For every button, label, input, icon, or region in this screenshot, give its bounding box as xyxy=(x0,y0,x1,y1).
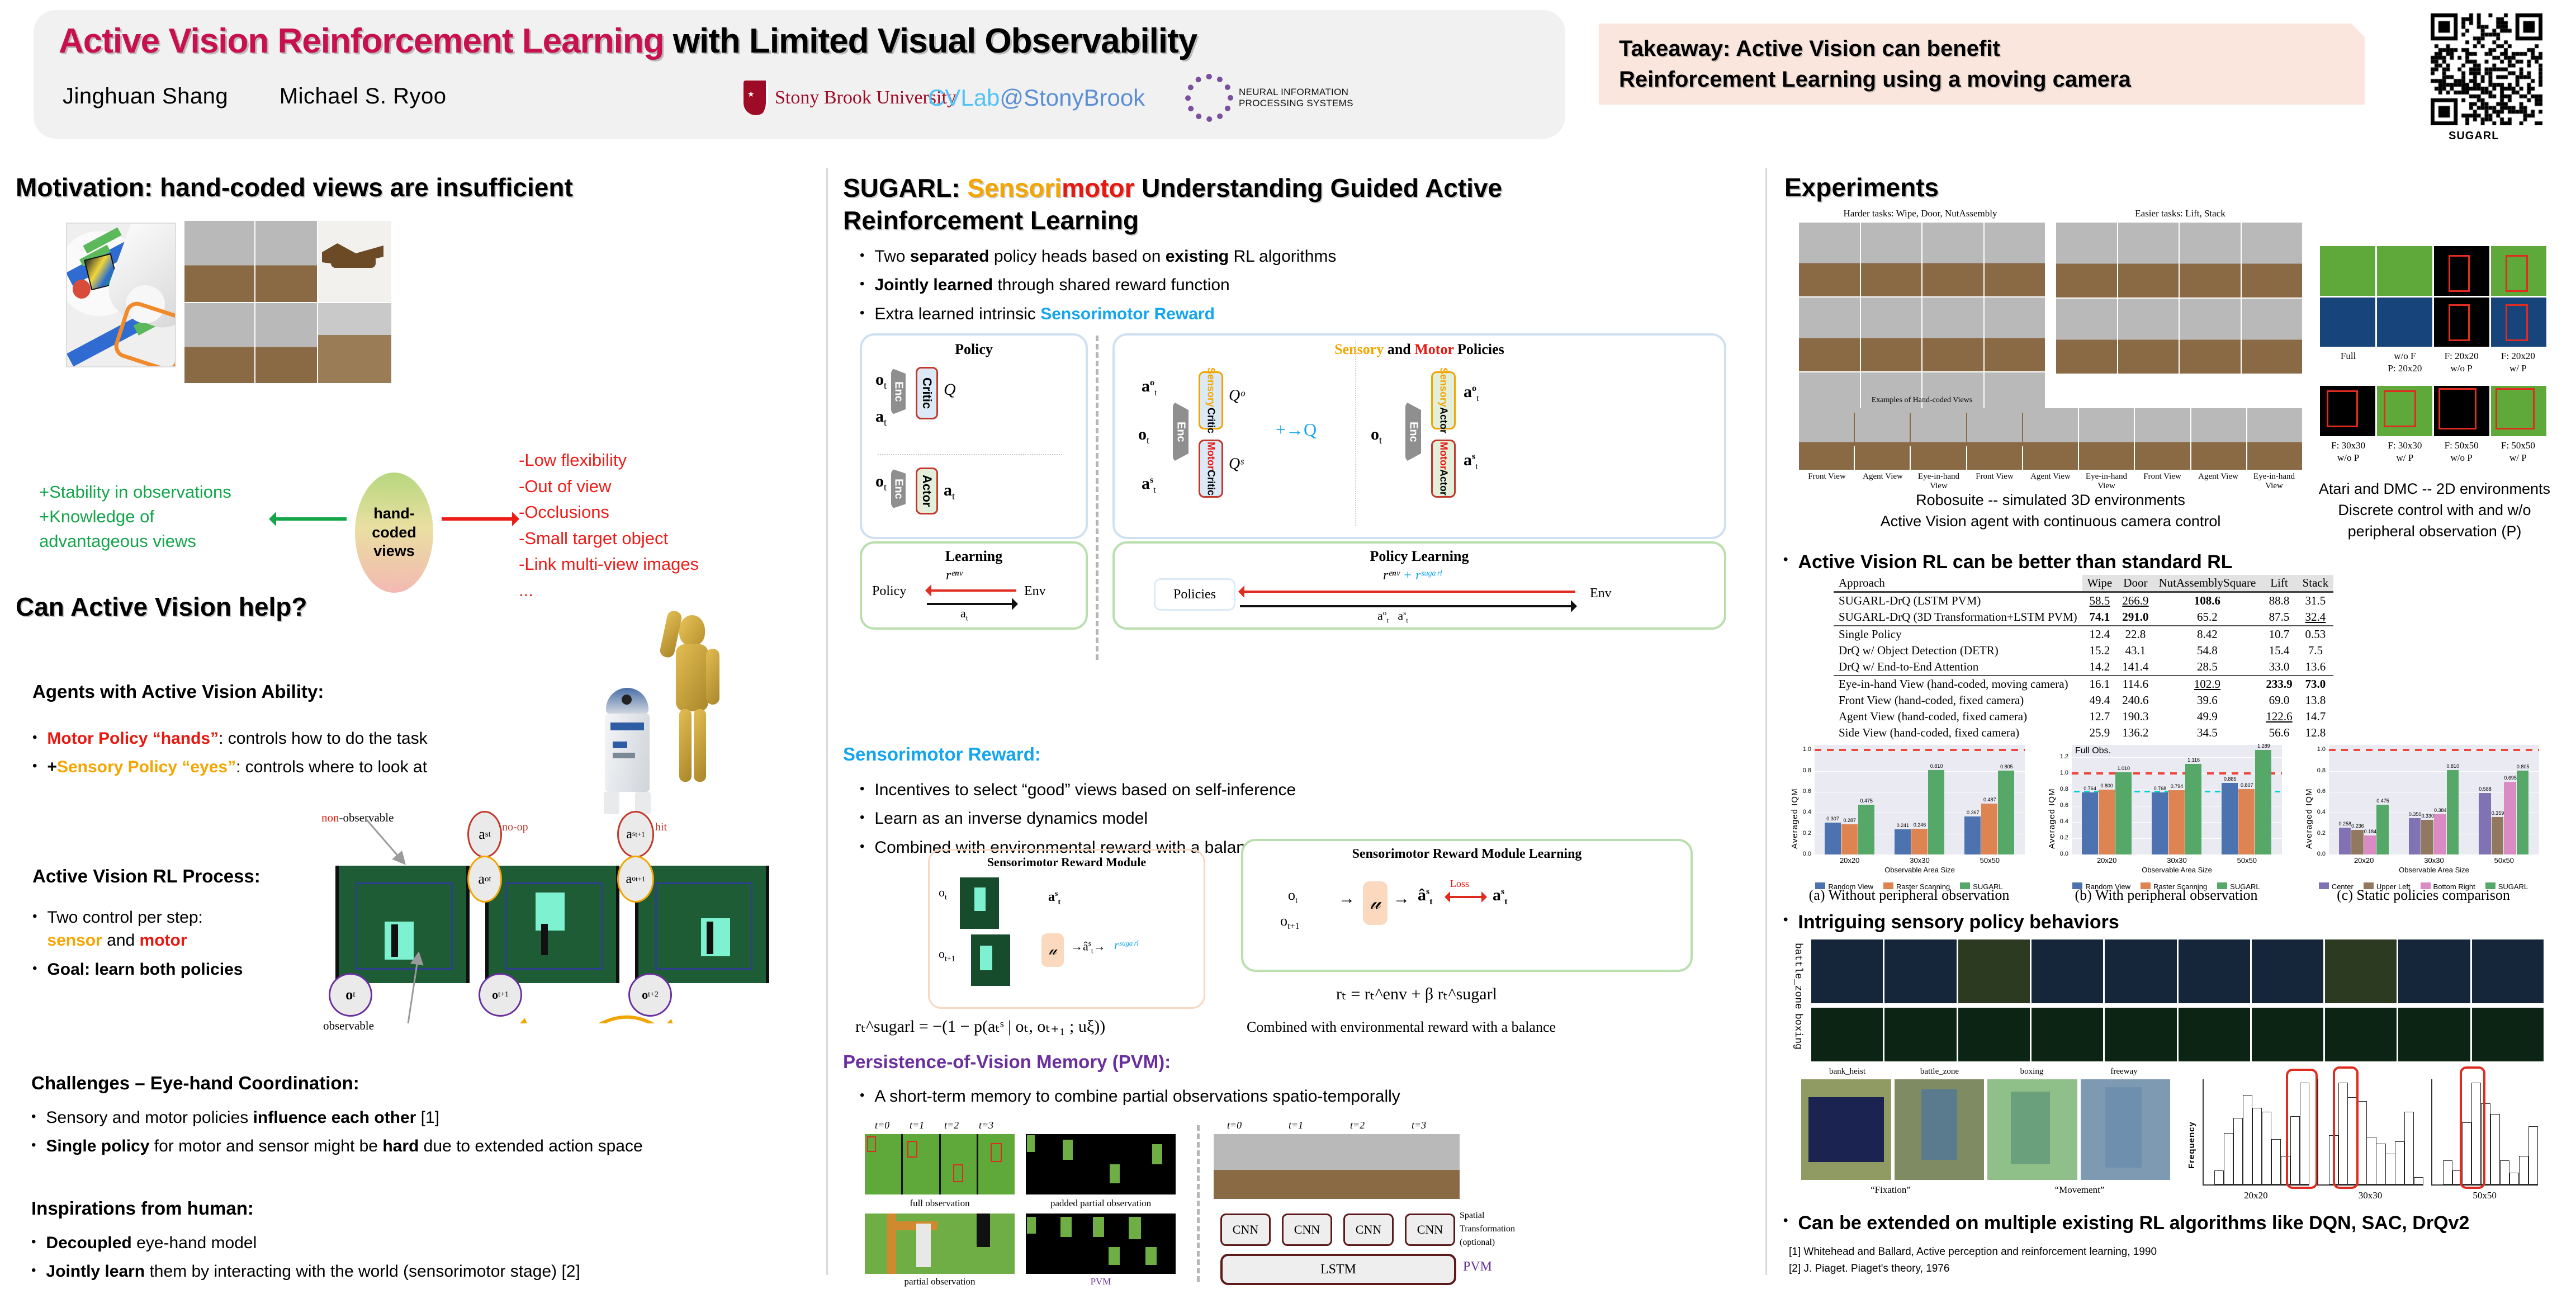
bullet-dot-icon: • xyxy=(1783,549,1788,575)
sm-as-label: ast xyxy=(1142,474,1156,495)
chart-annotation: Full Obs. xyxy=(2075,746,2111,756)
inspiration-1-bold: Decoupled xyxy=(46,1234,131,1252)
pl-rsugarl: + rˢᵘᵍᵃʳˡ xyxy=(1403,568,1442,583)
sugarl-prefix: SUGARL: xyxy=(843,173,967,202)
real-robot-photo xyxy=(66,223,176,367)
list-item: • Jointly learned through shared reward … xyxy=(860,273,1721,296)
action-sensor-oval-t: ast xyxy=(467,811,502,858)
module-learning-title: Sensorimotor Reward Module Learning xyxy=(1243,847,1690,862)
sm2-ot-label: ot xyxy=(1371,425,1382,446)
bullet-dot-icon: • xyxy=(860,303,864,325)
policy-q-label: Q xyxy=(944,380,956,399)
table-cell: 88.8 xyxy=(2261,592,2297,610)
formula-caption: Combined with environmental reward with … xyxy=(1247,1019,1556,1036)
neurips-logo: NEURAL INFORMATION PROCESSING SYSTEMS xyxy=(1185,78,1353,117)
page-title-rest: with Limited Visual Observability xyxy=(664,22,1197,60)
table-header-cell: Approach xyxy=(1834,575,2082,592)
table-row: Eye-in-hand View (hand-coded, moving cam… xyxy=(1834,676,2333,692)
mod-ot1-label: ot+1 xyxy=(939,947,955,964)
inspiration-1-post: eye-hand model xyxy=(132,1234,257,1252)
mod-u-node: 𝓊 xyxy=(1041,933,1064,967)
pvm2-t2-label: t=2 xyxy=(1350,1120,1365,1131)
ml-arrow-1-icon: → xyxy=(1338,889,1355,908)
bar xyxy=(2504,782,2516,854)
challenge-2-post2: due to extended action space xyxy=(419,1137,642,1155)
column-divider-left xyxy=(826,168,828,1275)
observation-frame-t xyxy=(335,866,470,983)
and-keyword: and xyxy=(102,931,140,950)
bar xyxy=(1825,823,1841,854)
bar-value-label: 0.805 xyxy=(1994,764,2019,769)
list-item: • +Sensory Policy “eyes”: controls where… xyxy=(32,756,591,778)
table-cell: 43.1 xyxy=(2117,643,2153,659)
qr-code-label: SUGARL xyxy=(2449,130,2499,143)
spatial-transform-note: Spatial Transformation (optional) xyxy=(1460,1209,1515,1249)
bar xyxy=(2479,793,2491,854)
bar xyxy=(2339,828,2351,854)
robosuite-line-1: Robosuite -- simulated 3D environments xyxy=(1799,490,2302,511)
x-axis-tick: 50x50 xyxy=(1955,856,2025,865)
table-cell: Single Policy xyxy=(1834,626,2082,643)
table-cell: 14.2 xyxy=(2082,659,2118,676)
bar-value-label: 0.475 xyxy=(1854,798,1879,804)
bullet-dot-icon: • xyxy=(860,273,864,296)
motor-policy-desc: : controls how to do the task xyxy=(219,729,428,748)
table-cell: 58.5 xyxy=(2082,592,2118,610)
histogram-30x30 xyxy=(2317,1079,2424,1186)
atari-label: F: 30x30 w/ P xyxy=(2376,440,2433,464)
ml-ahat-label: âst xyxy=(1418,886,1433,907)
pl-action-arrow xyxy=(1240,605,1575,607)
sg-b2-b1: Jointly learned xyxy=(874,276,993,294)
table-row: SUGARL-DrQ (3D Transformation+LSTM PVM)7… xyxy=(1834,609,2333,626)
pvm-bullet-text: A short-term memory to combine partial o… xyxy=(874,1085,1400,1108)
learning-env-label: Env xyxy=(1024,584,1046,599)
table-cell: DrQ w/ Object Detection (DETR) xyxy=(1834,643,2082,659)
q-o-label: Qᵒ xyxy=(1229,387,1244,405)
atari-line-3: peripheral observation (P) xyxy=(2303,521,2566,542)
action-sensor-oval-t1: ast+1 xyxy=(617,811,654,858)
table-cell: 25.9 xyxy=(2082,725,2118,741)
fixation-caption: “Fixation” xyxy=(1801,1184,1980,1196)
pvm-t1-label: t=1 xyxy=(910,1120,924,1131)
sensor-keyword: sensor xyxy=(47,931,102,950)
list-item: • Motor Policy “hands”: controls how to … xyxy=(32,727,591,750)
table-header-cell: Wipe xyxy=(2082,575,2118,592)
reference-line xyxy=(1815,749,2025,751)
bullet-extended: •Can be extended on multiple existing RL… xyxy=(1783,1210,2566,1236)
con-item: -Link multi-view images xyxy=(519,551,699,578)
section-heading-motivation: Motivation: hand-coded views are insuffi… xyxy=(16,172,573,202)
policy-learning-box: Policy Learning Policies Env rᵉⁿᵛ + rˢᵘᵍ… xyxy=(1112,541,1726,630)
sensory-motor-title: Sensory and Motor Policies xyxy=(1115,341,1724,358)
motor-critic-node: MotorCritic xyxy=(1199,440,1223,498)
sensory-actor-label-b: Actor xyxy=(1438,407,1450,433)
inspirations-heading: Inspirations from human: xyxy=(31,1198,254,1219)
challenge-2-bold2: hard xyxy=(382,1137,419,1155)
table-cell: 74.1 xyxy=(2082,609,2118,626)
process-bullets: • Two control per step: sensor and motor… xyxy=(32,906,323,986)
actor-at-label: at xyxy=(944,481,955,502)
pvm-bullet: •A short-term memory to combine partial … xyxy=(860,1085,1721,1108)
sg-b1-b2: existing xyxy=(1166,247,1229,266)
pro-item: advantageous views xyxy=(39,529,231,554)
ml-u-node: 𝓊 xyxy=(1363,881,1388,925)
takeaway-line-1: Takeaway: Active Vision can benefit xyxy=(1619,34,2131,64)
policy-learning-title: Policy Learning xyxy=(1115,548,1724,565)
boxing-frames xyxy=(1811,1008,2544,1061)
pvm-t0-label: t=0 xyxy=(875,1120,889,1131)
ml-ot1-label: ot+1 xyxy=(1280,913,1299,932)
formula-rt: rₜ = rₜ^env + β rₜ^sugarl xyxy=(1336,984,1497,1004)
bar xyxy=(1911,829,1928,854)
learning-at-label: at xyxy=(960,606,968,623)
game-label: battle_zone xyxy=(1893,1067,1986,1076)
y-axis-label: Averaged IQM xyxy=(2047,750,2057,849)
x-axis-label: Observable Area Size xyxy=(2072,866,2282,874)
challenges-heading: Challenges – Eye-hand Coordination: xyxy=(31,1073,359,1094)
atari-label: F: 50x50 w/ P xyxy=(2490,440,2546,464)
game-labels: bank_heist battle_zone boxing freeway xyxy=(1801,1067,2170,1076)
pl-r-labels: rᵉⁿᵛ + rˢᵘᵍᵃʳˡ xyxy=(1383,568,1442,583)
table-header-cell: NutAssemblySquare xyxy=(2154,575,2261,592)
takeaway-text: Takeaway: Active Vision can benefit Rein… xyxy=(1619,34,2131,95)
reference-item: [1] Whitehead and Ballard, Active percep… xyxy=(1789,1244,2572,1260)
sugarl-rest: Understanding Guided Active xyxy=(1134,173,1502,202)
pvm2-t1-label: t=1 xyxy=(1289,1120,1303,1131)
policy-diagram-title: Policy xyxy=(862,341,1086,358)
bullet-dot-icon: • xyxy=(32,727,37,750)
con-item: -Out of view xyxy=(519,474,699,500)
pro-item: +Knowledge of xyxy=(39,504,231,529)
table-cell: 49.4 xyxy=(2082,692,2118,709)
sugarl-sensori: Sensori xyxy=(967,173,1062,202)
cnn-node-1: CNN xyxy=(1220,1214,1271,1246)
view-label: Eye-in-hand View xyxy=(2078,472,2134,491)
table-cell: 31.5 xyxy=(2298,592,2334,610)
view-label: Front View xyxy=(1799,472,1855,491)
x-axis-tick: 20x20 xyxy=(1815,856,1884,865)
atari-label: F: 20x20 w/ P xyxy=(2490,350,2546,375)
sm-title-a: Sensory xyxy=(1334,341,1384,357)
references: [1] Whitehead and Ballard, Active percep… xyxy=(1789,1244,2572,1278)
list-item: • Sensory and motor policies influence e… xyxy=(31,1106,780,1129)
x-axis-label: Observable Area Size xyxy=(1815,866,2025,874)
atari-label: F: 50x50 w/o P xyxy=(2433,440,2490,464)
bar xyxy=(2364,835,2376,854)
learning-action-arrow xyxy=(927,603,1016,605)
table-cell: 15.2 xyxy=(2082,643,2118,659)
spatial-line-3: (optional) xyxy=(1460,1236,1515,1249)
behavior-row-label-1: battle_zone xyxy=(1792,943,1803,1009)
table-cell: 108.6 xyxy=(2154,592,2261,610)
atari-grid-labels-2: F: 30x30 w/o P F: 30x30 w/ P F: 50x50 w/… xyxy=(2320,440,2546,464)
bullet-dot-icon: • xyxy=(31,1231,36,1254)
section-heading-can-active-vision-help: Can Active Vision help? xyxy=(16,592,307,622)
cvlab-logo-label-a: CVLab xyxy=(928,84,1000,111)
hand-coded-views-caption: Examples of Hand-coded Views xyxy=(1799,396,2045,405)
table-cell: 56.6 xyxy=(2261,725,2297,741)
table-cell: 12.8 xyxy=(2298,725,2334,741)
table-cell: Side View (hand-coded, fixed camera) xyxy=(1834,725,2082,741)
view-labels-row: Front View Agent View Eye-in-hand View F… xyxy=(1799,472,2302,491)
middle-vertical-dashed-divider xyxy=(1096,336,1098,660)
sensory-plus-sign: + xyxy=(47,758,57,776)
bullet-dot-icon: • xyxy=(860,1085,864,1108)
motor-critic-label-b: Critic xyxy=(1205,470,1217,495)
x-axis-tick: 50x50 xyxy=(2469,856,2539,865)
table-cell: 122.6 xyxy=(2261,709,2297,725)
results-table: ApproachWipeDoorNutAssemblySquareLiftSta… xyxy=(1834,575,2333,741)
table-row: SUGARL-DrQ (LSTM PVM)58.5266.9108.688.83… xyxy=(1834,592,2333,610)
r2d2-illustration xyxy=(594,688,661,816)
bar xyxy=(2492,817,2504,854)
table-cell: 15.4 xyxy=(2261,643,2297,659)
authors: Jinghuan Shang Michael S. Ryoo xyxy=(63,84,491,109)
bullet-active-vision-better-text: Active Vision RL can be better than stan… xyxy=(1798,549,2232,575)
pro-item: +Stability in observations xyxy=(39,480,231,504)
bullet-dot-icon: • xyxy=(1783,909,1788,936)
sensory-critic-label-a: Sensory xyxy=(1205,367,1217,407)
x-axis-tick: 30x30 xyxy=(2142,856,2212,865)
bar xyxy=(2152,792,2168,855)
list-item: •Incentives to select “good” views based… xyxy=(860,778,1721,801)
sm-title-c: Policies xyxy=(1454,341,1504,357)
challenges-bullets: • Sensory and motor policies influence e… xyxy=(31,1106,780,1164)
list-item: • Two separated policy heads based on ex… xyxy=(860,245,1721,268)
pvm-divider xyxy=(1197,1125,1200,1282)
bar xyxy=(1964,816,1981,855)
sensorimotor-module-box: Sensorimotor Reward Module ot ot+1 ast 𝓊… xyxy=(928,849,1205,1009)
table-cell: 12.4 xyxy=(2082,626,2118,643)
lstm-node: LSTM xyxy=(1220,1254,1456,1285)
sg-b2-mid: through shared reward function xyxy=(993,276,1230,294)
plus-q-label: +→Q xyxy=(1276,419,1317,440)
observable-label: observable xyxy=(323,1019,374,1033)
x-axis-tick: 30x30 xyxy=(1884,856,1954,865)
author-2: Michael S. Ryoo xyxy=(280,84,447,108)
actor-encoder-node: Enc xyxy=(891,469,906,509)
simulated-views-grid xyxy=(184,221,391,383)
easier-tasks-caption: Easier tasks: Lift, Stack xyxy=(2057,208,2303,219)
sensory-policy-label: Sensory Policy “eyes” xyxy=(57,758,236,776)
hit-label: hit xyxy=(655,821,667,834)
agents-ability-heading: Agents with Active Vision Ability: xyxy=(32,681,324,702)
x-axis-label: Observable Area Size xyxy=(2329,866,2539,874)
atari-examples-grid-2 xyxy=(2320,386,2546,436)
ml-arrow-2-icon: → xyxy=(1393,889,1410,908)
pl-reward-arrow xyxy=(1240,591,1575,593)
actor-ot-label: ot xyxy=(875,472,887,493)
non-observable-label: non-observable xyxy=(321,811,394,825)
view-label: Agent View xyxy=(2190,472,2246,491)
neurips-line-2: PROCESSING SYSTEMS xyxy=(1239,98,1353,109)
policy-diagram-box: Policy ot at Enc Critic Q ot Enc Actor a… xyxy=(860,333,1088,539)
sensory-actor-label-a: Sensory xyxy=(1438,367,1450,407)
table-cell: 69.0 xyxy=(2261,692,2297,709)
pvm-partial-observation-caption: partial observation xyxy=(865,1276,1015,1287)
list-item: • Extra learned intrinsic Sensorimotor R… xyxy=(860,303,1721,325)
mod-frame-t xyxy=(960,877,999,929)
observation-frame-t1 xyxy=(485,866,619,983)
bar-value-label: 0.588 xyxy=(2475,786,2495,792)
bar xyxy=(2099,790,2115,854)
bullet-dot-icon: • xyxy=(32,906,37,952)
table-cell: 22.8 xyxy=(2117,626,2153,643)
cnn-node-2: CNN xyxy=(1282,1214,1332,1246)
table-row: Agent View (hand-coded, fixed camera)12.… xyxy=(1834,709,2333,725)
table-cell: 136.2 xyxy=(2117,725,2153,741)
hand-coded-views-oval: hand-coded views xyxy=(355,473,433,593)
column-divider-right xyxy=(1765,168,1767,1275)
pvm-t2-label: t=2 xyxy=(944,1120,959,1131)
out-ao-label: aot xyxy=(1464,383,1479,404)
sm-title-b: Motor xyxy=(1414,341,1453,357)
oval-label: hand-coded views xyxy=(355,504,433,561)
table-header-cell: Lift xyxy=(2261,575,2297,592)
bar xyxy=(2185,764,2201,854)
con-item: -Occlusions xyxy=(519,499,699,526)
table-cell: 114.6 xyxy=(2117,676,2153,692)
sm-divider xyxy=(1355,341,1356,526)
con-item: -Small target object xyxy=(519,526,699,552)
bar-value-label: 0.236 xyxy=(2347,823,2368,829)
challenge-1-pre: Sensory and motor policies xyxy=(46,1108,253,1127)
con-item: ... xyxy=(519,578,699,604)
neurips-swirl-icon xyxy=(1185,74,1233,122)
bar xyxy=(2255,750,2271,854)
table-cell: 0.53 xyxy=(2298,626,2334,643)
chart-c-caption: (c) Static policies comparison xyxy=(2303,887,2544,904)
y-axis-tick: 0.0 xyxy=(2303,851,2326,857)
pl-renv: rᵉⁿᵛ xyxy=(1383,568,1400,583)
qr-code[interactable] xyxy=(2431,13,2542,125)
atari-line-2: Discrete control with and w/o xyxy=(2303,500,2566,521)
bar xyxy=(1841,824,1858,854)
learning-renv-label: rᵉⁿᵛ xyxy=(946,568,963,583)
spatial-line-2: Transformation xyxy=(1460,1222,1515,1236)
table-cell: 65.2 xyxy=(2154,609,2261,626)
sensorimotor-module-learning-box: Sensorimotor Reward Module Learning ot o… xyxy=(1241,839,1693,972)
bullet-intriguing: •Intriguing sensory policy behaviors xyxy=(1783,909,2119,936)
inspiration-2-post: them by interacting with the world (sens… xyxy=(145,1262,580,1281)
learning-reward-arrow xyxy=(927,589,1016,592)
bar xyxy=(2222,783,2238,854)
challenge-1-post: [1] xyxy=(416,1108,439,1127)
agents-ability-bullets: • Motor Policy “hands”: controls how to … xyxy=(32,727,591,785)
table-cell: 8.42 xyxy=(2154,626,2261,643)
table-cell: 240.6 xyxy=(2117,692,2153,709)
table-cell: 190.3 xyxy=(2117,709,2153,725)
section-heading-experiments: Experiments xyxy=(1784,172,1939,202)
bar-value-label: 0.475 xyxy=(2373,798,2393,804)
bullet-extended-text: Can be extended on multiple existing RL … xyxy=(1798,1210,2469,1236)
bar xyxy=(2434,814,2446,854)
pvm-label: PVM xyxy=(1026,1276,1176,1287)
list-item: • Two control per step: sensor and motor xyxy=(32,906,323,952)
table-cell: 28.5 xyxy=(2154,659,2261,676)
reference-line xyxy=(2329,749,2539,751)
policy-at-label: at xyxy=(875,407,887,428)
atari-examples-grid xyxy=(2320,246,2546,347)
bullet-dot-icon: • xyxy=(860,836,864,859)
page-title: Active Vision Reinforcement Learning wit… xyxy=(59,21,1579,61)
bar xyxy=(2447,770,2459,854)
pvm-memory-img xyxy=(1026,1214,1176,1274)
bar xyxy=(1981,804,1997,854)
pvm2-t3-label: t=3 xyxy=(1412,1120,1426,1131)
cvlab-logo: CVLab@StonyBrook xyxy=(928,78,1145,117)
table-row: DrQ w/ End-to-End Attention14.2141.428.5… xyxy=(1834,659,2333,676)
table-cell: 266.9 xyxy=(2117,592,2153,610)
view-label: Eye-in-hand View xyxy=(2246,472,2302,491)
bar xyxy=(2168,790,2185,854)
table-header-cell: Stack xyxy=(2298,575,2334,592)
bullet-dot-icon: • xyxy=(860,778,864,801)
challenge-1-bold: influence each other xyxy=(253,1108,416,1127)
table-cell: DrQ w/ End-to-End Attention xyxy=(1834,659,2082,676)
behavior-row-label-2: boxing xyxy=(1792,1013,1803,1050)
y-axis-tick: 0.0 xyxy=(2046,851,2068,857)
table-cell: 10.7 xyxy=(2261,626,2297,643)
challenge-2-post: for motor and sensor might be xyxy=(149,1137,382,1155)
game-label: freeway xyxy=(2078,1067,2170,1076)
policies-node: Policies xyxy=(1154,578,1235,611)
bullet-dot-icon: • xyxy=(32,756,37,778)
action-motor-oval-t1: aot+1 xyxy=(617,856,654,903)
sensory-policy-desc: : controls where to look at xyxy=(236,758,427,776)
chart-b: 0.7640.8001.0100.7680.7941.1160.8850.807… xyxy=(2046,739,2286,874)
x-axis-tick: 30x30 xyxy=(2399,856,2469,865)
hist-group-label: 30x30 xyxy=(2317,1190,2424,1201)
bar-value-label: 1.289 xyxy=(2251,743,2276,749)
game-frames xyxy=(1801,1079,2170,1180)
process-heading: Active Vision RL Process: xyxy=(32,866,261,887)
bar xyxy=(2082,792,2098,854)
table-cell: 34.5 xyxy=(2154,725,2261,741)
list-item: • Goal: learn both policies xyxy=(32,958,323,981)
sm2-encoder-node: Enc xyxy=(1405,402,1421,462)
table-cell: 49.9 xyxy=(2154,709,2261,725)
motor-actor-label-a: Motor xyxy=(1438,442,1450,470)
list-item: •Learn as an inverse dynamics model xyxy=(860,807,1721,830)
cvlab-logo-label-b: @StonyBrook xyxy=(1000,84,1145,111)
bullet-dot-icon: • xyxy=(31,1135,36,1158)
reference-item: [2] J. Piaget. Piaget's theory, 1976 xyxy=(1789,1260,2572,1277)
table-row: Side View (hand-coded, fixed camera)25.9… xyxy=(1834,725,2333,741)
pros-list: +Stability in observations +Knowledge of… xyxy=(39,480,231,554)
observation-frame-t2 xyxy=(635,866,769,983)
pvm-full-observation-caption: full observation xyxy=(865,1198,1015,1209)
bar xyxy=(1895,829,1911,854)
bar xyxy=(2517,771,2529,854)
table-cell: Eye-in-hand View (hand-coded, moving cam… xyxy=(1834,676,2082,692)
inspiration-2-bold: Jointly learn xyxy=(46,1262,145,1281)
c3po-illustration xyxy=(651,615,730,800)
atari-line-1: Atari and DMC -- 2D environments xyxy=(2303,479,2566,500)
bar-value-label: 1.010 xyxy=(2111,766,2136,771)
atari-label: Full xyxy=(2320,350,2376,375)
policy-actor-node: Actor xyxy=(916,468,938,514)
observation-oval-t2: ot+2 xyxy=(628,973,672,1017)
motor-keyword: motor xyxy=(140,931,187,950)
sugarl-line2: Reinforcement Learning xyxy=(843,206,1139,235)
list-item: • Single policy for motor and sensor mig… xyxy=(31,1135,780,1158)
page-title-highlight: Active Vision Reinforcement Learning xyxy=(59,22,664,60)
section-heading-sugarl: SUGARL: Sensorimotor Understanding Guide… xyxy=(843,172,1715,237)
bar xyxy=(2409,818,2421,854)
atari-grid-labels: Full w/o F P: 20x20 F: 20x20 w/o P F: 20… xyxy=(2320,350,2546,375)
